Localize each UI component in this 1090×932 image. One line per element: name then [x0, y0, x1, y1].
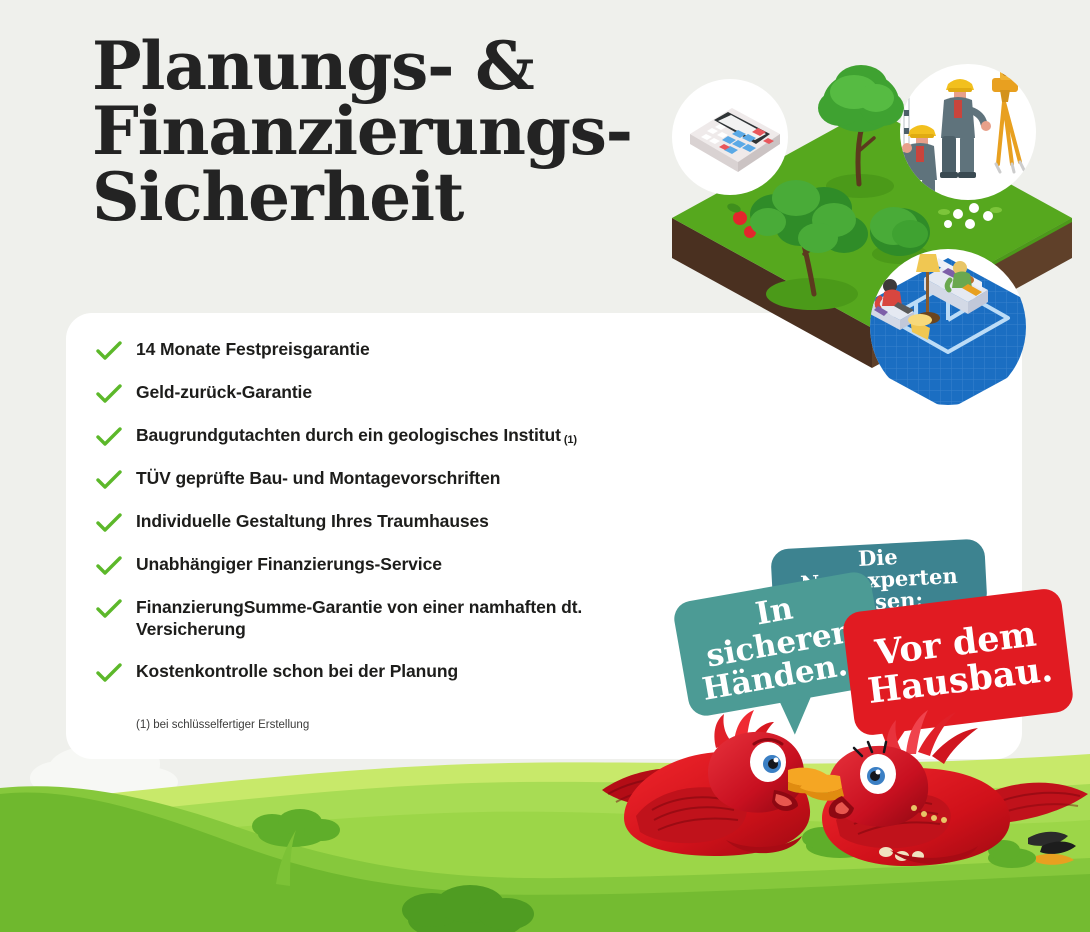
tail-dark-feathers — [1028, 832, 1076, 865]
check-icon — [96, 598, 122, 620]
list-item-label: Geld-zurück-Garantie — [136, 382, 312, 402]
list-item: Baugrundgutachten durch ein geologisches… — [96, 424, 716, 448]
list-item-label: Individuelle Gestaltung Ihres Traumhause… — [136, 511, 489, 531]
list-item: Geld-zurück-Garantie — [96, 381, 716, 405]
list-item-label: TÜV geprüfte Bau- und Montagevorschrifte… — [136, 468, 500, 488]
footnote: (1) bei schlüsselfertiger Erstellung — [136, 719, 309, 731]
list-item: FinanzierungSumme-Garantie von einer nam… — [96, 596, 716, 641]
check-icon — [96, 555, 122, 577]
page-title: Planungs- & Finanzierungs- Sicherheit — [92, 34, 692, 230]
list-item-label: Unabhängiger Finanzierungs-Service — [136, 554, 442, 574]
bird-left — [602, 710, 834, 856]
check-icon — [96, 340, 122, 362]
list-item: TÜV geprüfte Bau- und Montagevorschrifte… — [96, 467, 716, 491]
list-item: Individuelle Gestaltung Ihres Traumhause… — [96, 510, 716, 534]
list-item-label: 14 Monate Festpreisgarantie — [136, 339, 370, 359]
check-icon — [96, 383, 122, 405]
check-icon — [96, 512, 122, 534]
calculator-circle — [672, 79, 788, 195]
birds-illustration — [596, 690, 1090, 890]
list-item-label: Kostenkontrolle schon bei der Planung — [136, 661, 458, 681]
checklist: 14 Monate Festpreisgarantie Geld-zurück-… — [96, 338, 716, 684]
list-item: Kostenkontrolle schon bei der Planung — [96, 660, 716, 684]
check-icon — [96, 469, 122, 491]
list-item-footnote-marker: (1) — [564, 434, 577, 446]
list-item: Unabhängiger Finanzierungs-Service — [96, 553, 716, 577]
infographic-stage: Planungs- & Finanzierungs- Sicherheit 14… — [0, 0, 1090, 932]
isometric-plot-illustration — [648, 22, 1090, 422]
list-item-label: FinanzierungSumme-Garantie von einer nam… — [136, 597, 582, 639]
bird-right — [800, 710, 1088, 866]
check-icon — [96, 426, 122, 448]
list-item-label: Baugrundgutachten durch ein geologisches… — [136, 425, 561, 445]
list-item: 14 Monate Festpreisgarantie — [96, 338, 716, 362]
check-icon — [96, 662, 122, 684]
